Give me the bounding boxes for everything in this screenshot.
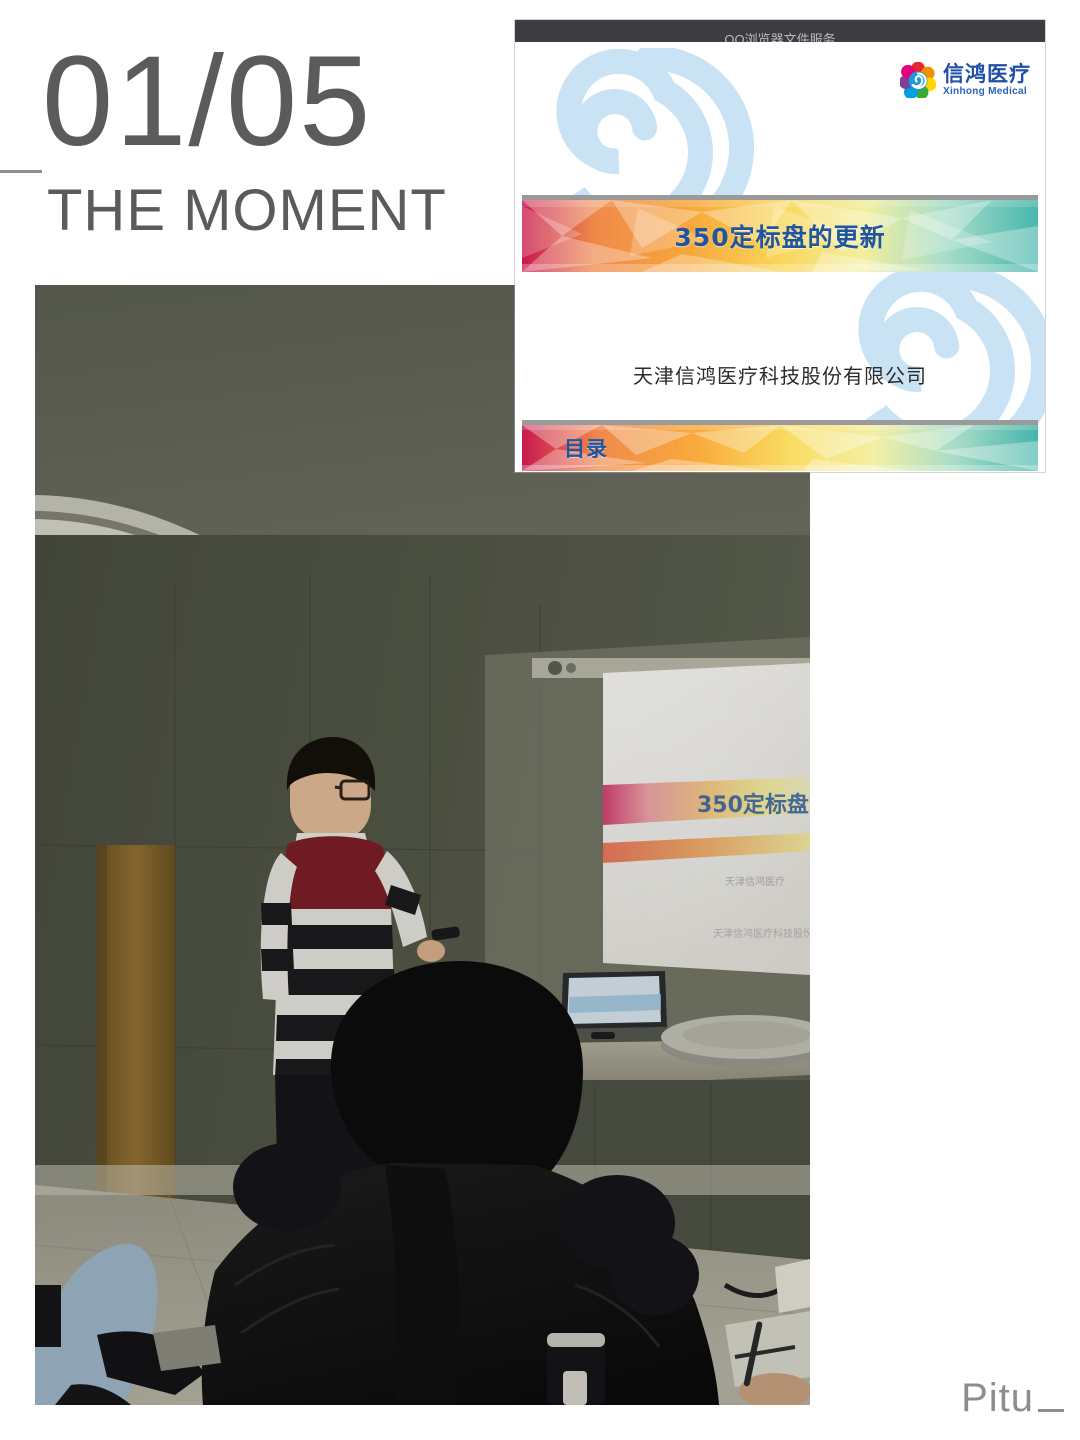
flower-petal-icon — [900, 62, 936, 98]
slide-number: 01/05 — [42, 38, 372, 166]
window-titlebar: QQ浏览器文件服务 — [515, 20, 1045, 42]
accent-rule — [0, 170, 42, 173]
window-title-text: QQ浏览器文件服务 — [724, 29, 835, 42]
slide-title-banner: 350定标盘的更新 — [522, 200, 1038, 272]
brand-logo: 信鸿医疗 Xinhong Medical — [900, 62, 1031, 98]
toc-banner: 目录 — [522, 425, 1038, 471]
company-name-line: 天津信鸿医疗科技股份有限公司 — [515, 360, 1045, 389]
brand-name-en: Xinhong Medical — [943, 87, 1031, 97]
watermark-rule — [1038, 1409, 1064, 1412]
slide-title-text: 350定标盘的更新 — [522, 200, 1038, 272]
header-block: 01/05 THE MOMENT — [0, 0, 540, 285]
pitu-watermark: Pitu — [961, 1378, 1064, 1418]
brand-text: 信鸿医疗 Xinhong Medical — [943, 64, 1031, 97]
slide-screenshot-overlay: QQ浏览器文件服务 信鸿医疗 Xinhong Medical — [515, 20, 1045, 472]
section-label: THE MOMENT — [47, 182, 447, 240]
watermark-label: Pitu — [961, 1378, 1034, 1418]
toc-text: 目录 — [564, 425, 608, 471]
brand-name-cn: 信鸿医疗 — [943, 64, 1031, 85]
